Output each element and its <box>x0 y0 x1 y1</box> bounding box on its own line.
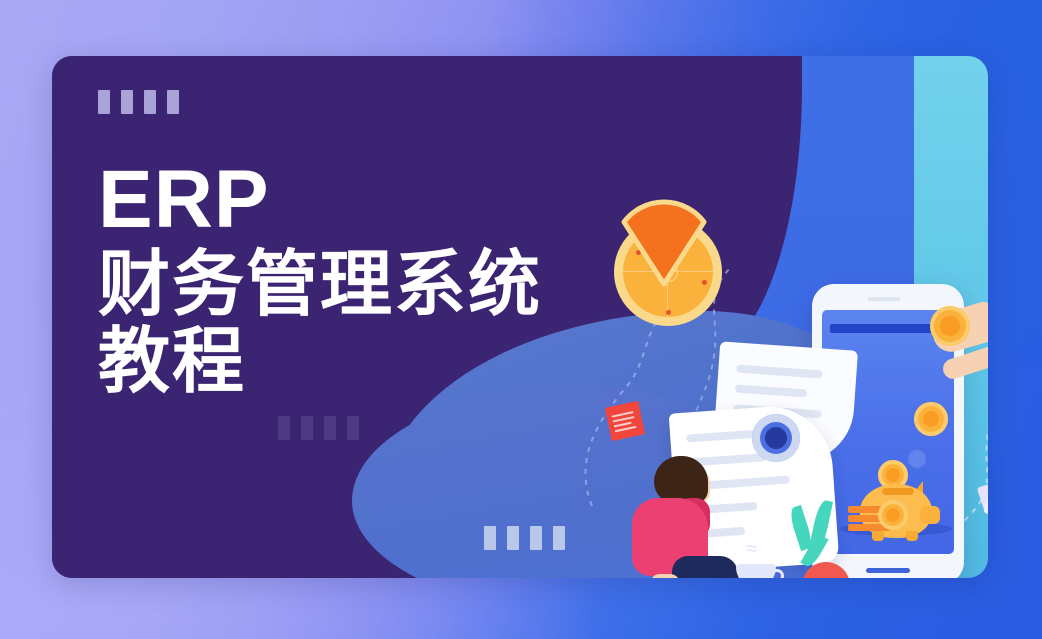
seated-person-hair <box>654 456 708 504</box>
poster-text-block: ERP 财务管理系统 教程 <box>98 90 542 399</box>
dash-mark <box>507 526 519 550</box>
dash-mark <box>301 416 313 440</box>
cup-bowl <box>736 564 776 578</box>
gauge-exploded-slice-icon <box>618 196 710 288</box>
note-line <box>615 426 637 433</box>
poster-card: ≈ ERP 财务管理系统 <box>52 56 988 578</box>
sticky-note <box>605 401 645 441</box>
seated-person <box>624 456 734 578</box>
dash-mark <box>144 90 156 114</box>
coffee-cup <box>732 560 782 578</box>
piggy-snout <box>920 506 940 524</box>
dash-mark <box>121 90 133 114</box>
piggy-coin-slot <box>882 488 914 495</box>
decor-dashes-top <box>98 90 542 114</box>
phone-speaker <box>868 297 900 301</box>
standing-person-foot <box>986 564 988 578</box>
dash-mark <box>484 526 496 550</box>
bubble-decor <box>908 450 926 468</box>
poster-title-cn: 财务管理系统 教程 <box>98 246 542 399</box>
piggy-leg <box>906 531 918 541</box>
phone-home-bar <box>866 568 910 573</box>
dash-mark <box>167 90 179 114</box>
receipt-line <box>735 384 807 397</box>
gauge-marker-dot <box>666 310 671 315</box>
decor-dashes-lower <box>484 526 565 550</box>
standing-person <box>980 292 988 578</box>
steam-icon: ≈ <box>746 538 757 561</box>
coin <box>914 402 948 436</box>
dash-mark <box>530 526 542 550</box>
receipt-line <box>736 365 822 379</box>
dash-mark <box>347 416 359 440</box>
poster-title-cn-line2: 教程 <box>98 323 542 399</box>
poster-title-en: ERP <box>98 160 542 240</box>
poster-title-cn-line1: 财务管理系统 <box>98 246 542 322</box>
dash-mark <box>553 526 565 550</box>
decor-dashes-middle <box>278 416 359 440</box>
potted-plant <box>790 500 848 578</box>
dash-mark <box>324 416 336 440</box>
receipt-roll <box>752 414 800 462</box>
coin <box>930 306 970 346</box>
coin <box>878 500 908 530</box>
dash-mark <box>278 416 290 440</box>
seated-person-leg <box>672 556 738 578</box>
dash-mark <box>98 90 110 114</box>
